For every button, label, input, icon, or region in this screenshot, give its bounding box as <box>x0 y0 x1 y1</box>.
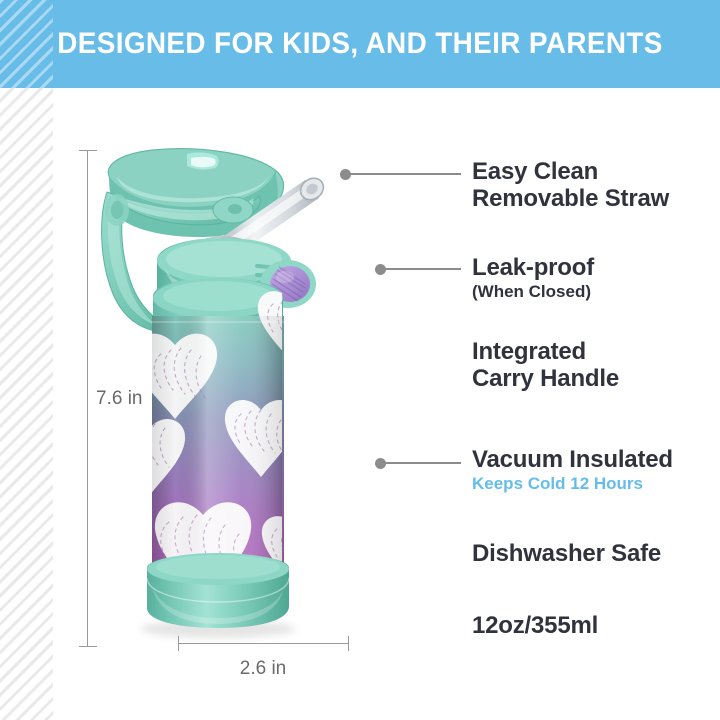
callout-dot-easy-clean <box>340 169 351 180</box>
callout-line-vacuum-insulated <box>383 462 461 464</box>
header-banner: DESIGNED FOR KIDS, AND THEIR PARENTS <box>0 0 720 88</box>
feature-easy-clean-removable-straw: Easy Clean Removable Straw <box>472 158 669 213</box>
width-dimension-cap-right <box>348 636 349 651</box>
left-stripe-pattern <box>0 0 53 720</box>
height-dimension-cap-bottom <box>79 646 97 647</box>
feature-title: Vacuum Insulated <box>472 446 673 473</box>
height-dimension-line <box>87 150 88 646</box>
feature-subtitle: (When Closed) <box>472 282 594 302</box>
bottle-base <box>147 553 289 628</box>
feature-subtitle: Keeps Cold 12 Hours <box>472 474 673 494</box>
callout-line-easy-clean <box>348 173 461 175</box>
width-dimension-label: 2.6 in <box>178 658 348 680</box>
width-dimension-cap-left <box>178 636 179 651</box>
feature-integrated-carry-handle: Integrated Carry Handle <box>472 338 619 393</box>
callout-dot-leak-proof <box>375 264 386 275</box>
infographic-page: DESIGNED FOR KIDS, AND THEIR PARENTS <box>0 0 720 720</box>
width-dimension-line <box>178 643 348 644</box>
feature-title: 12oz/355ml <box>472 612 598 639</box>
feature-leak-proof: Leak-proof (When Closed) <box>472 254 594 303</box>
feature-capacity: 12oz/355ml <box>472 612 598 639</box>
page-title: DESIGNED FOR KIDS, AND THEIR PARENTS <box>25 0 695 88</box>
feature-title: Dishwasher Safe <box>472 540 661 567</box>
feature-title: Integrated Carry Handle <box>472 338 619 393</box>
feature-title: Leak-proof <box>472 254 594 281</box>
height-dimension-label: 7.6 in <box>96 388 142 410</box>
feature-title: Easy Clean Removable Straw <box>472 158 669 213</box>
feature-dishwasher-safe: Dishwasher Safe <box>472 540 661 567</box>
feature-vacuum-insulated: Vacuum Insulated Keeps Cold 12 Hours <box>472 446 673 495</box>
height-dimension-cap-top <box>79 150 97 151</box>
callout-dot-vacuum-insulated <box>375 458 386 469</box>
callout-line-leak-proof <box>383 268 461 270</box>
